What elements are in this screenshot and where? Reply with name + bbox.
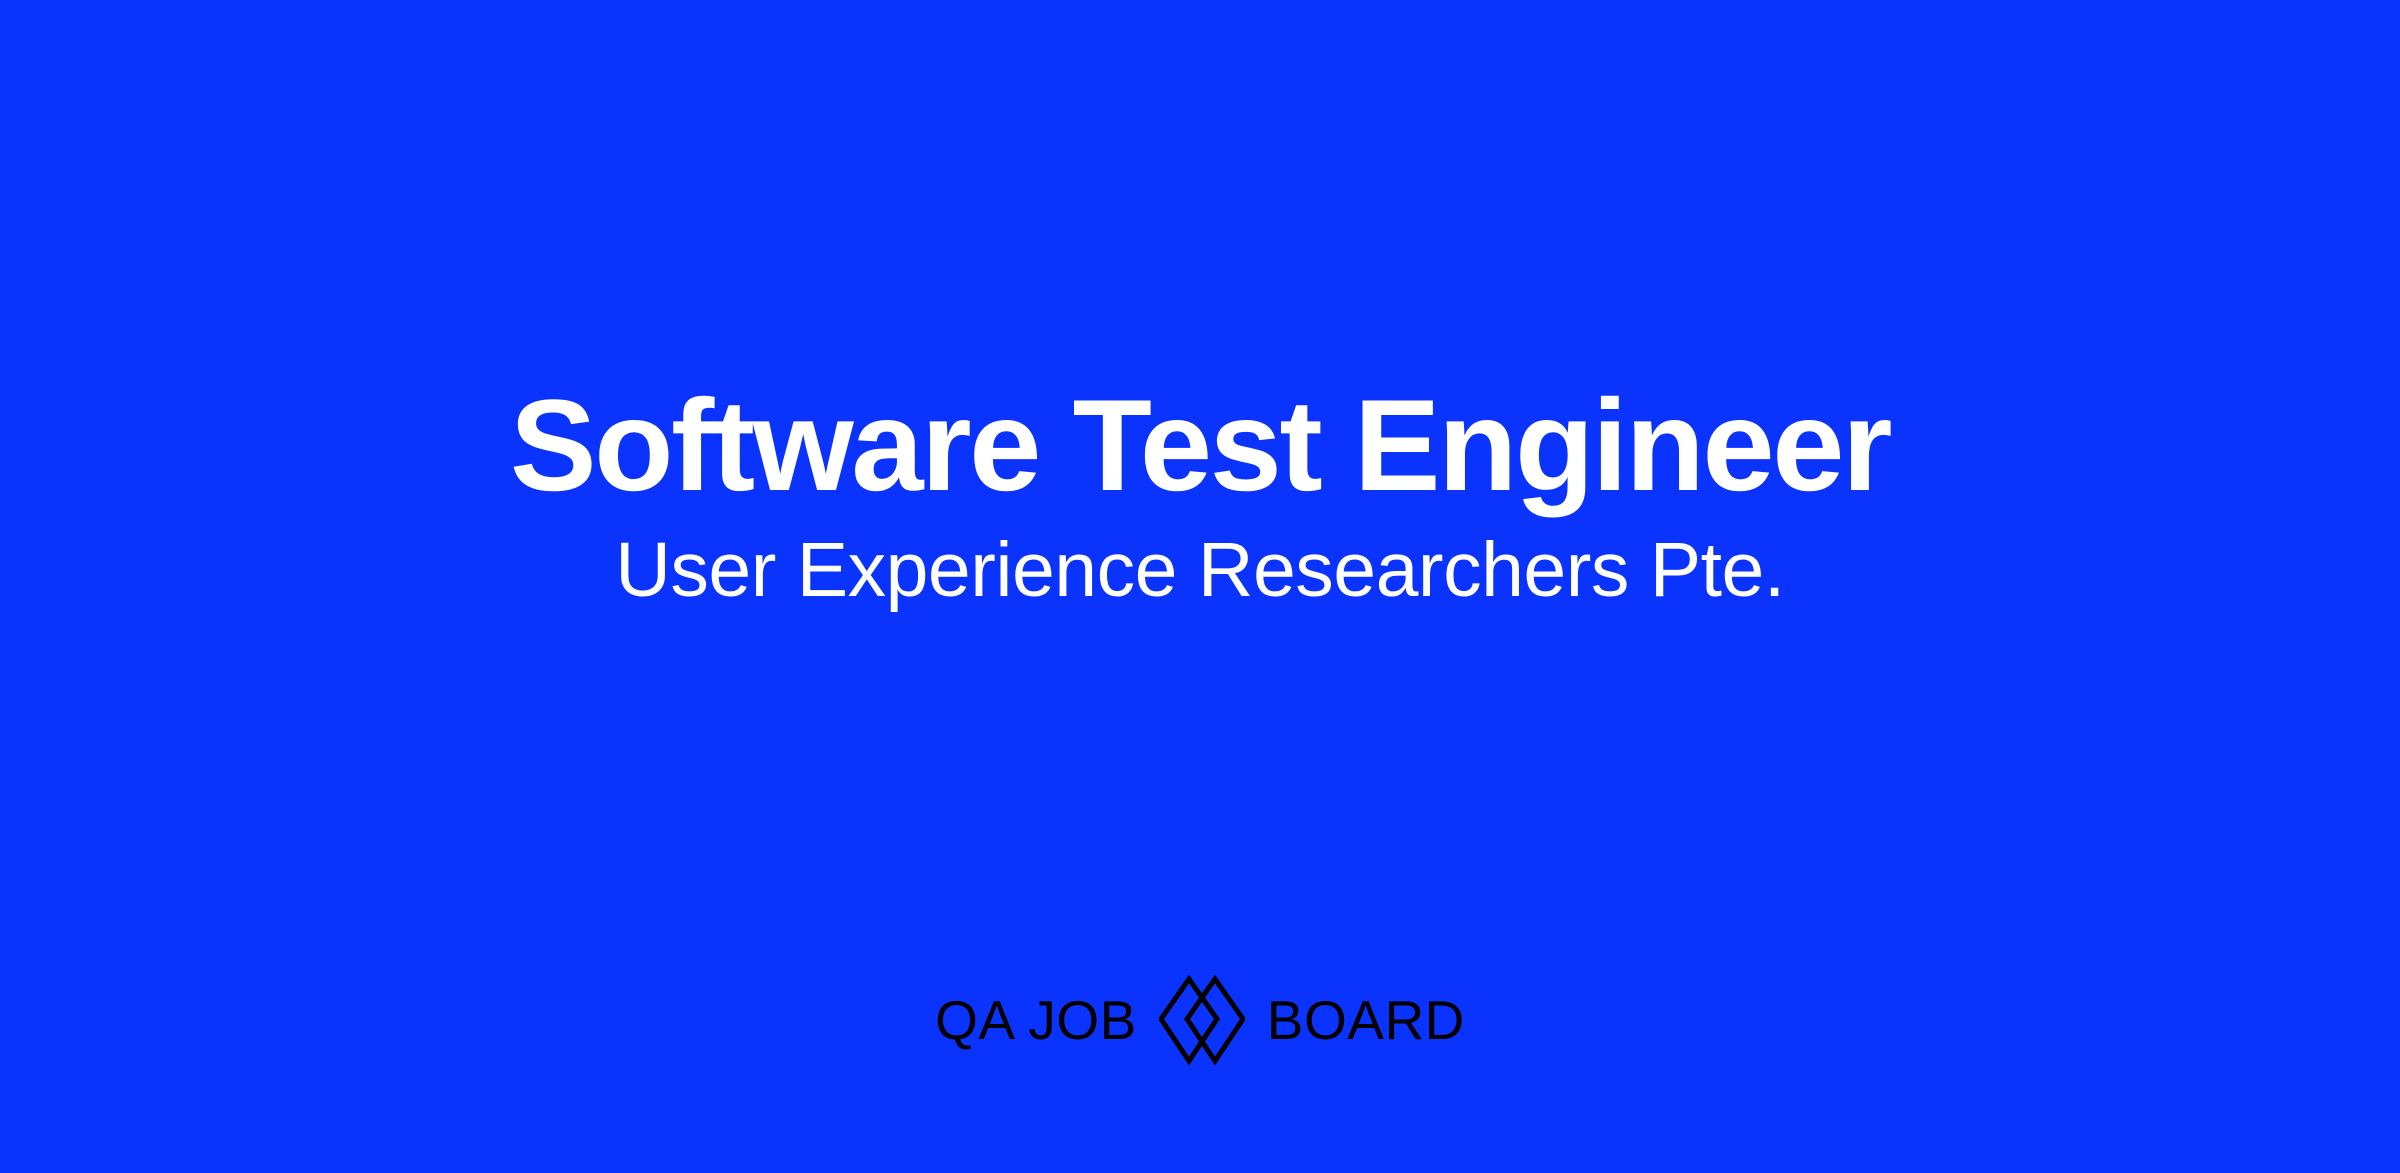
headline-block: Software Test Engineer User Experience R… — [0, 380, 2400, 609]
double-diamond-icon — [1159, 975, 1245, 1065]
brand-word-right: BOARD — [1267, 993, 1465, 1048]
page-title: Software Test Engineer — [0, 380, 2400, 510]
brand-word-left: QA JOB — [935, 993, 1137, 1048]
company-name: User Experience Researchers Pte. — [0, 532, 2400, 609]
job-posting-card: Software Test Engineer User Experience R… — [0, 0, 2400, 1173]
brand-lockup: QA JOB BOARD — [0, 975, 2400, 1065]
